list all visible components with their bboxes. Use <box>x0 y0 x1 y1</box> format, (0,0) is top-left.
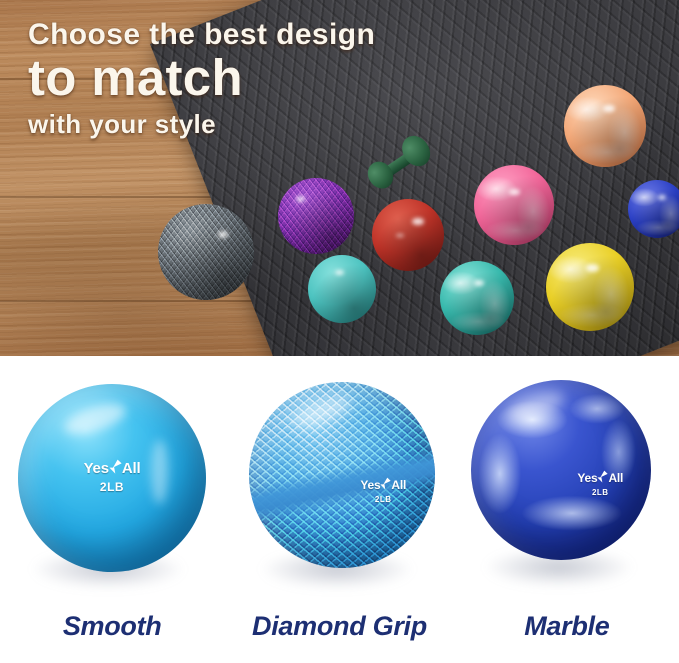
variant-photo-marble: Yes All 2LB <box>455 356 679 599</box>
pink-marble-ball <box>474 165 554 245</box>
yellow-marble-ball <box>546 243 634 331</box>
brand-logo-smooth: Yes All 2LB <box>18 459 206 494</box>
variant-card-row: Yes All 2LB Smooth <box>0 356 679 663</box>
variant-card-diamond-grip[interactable]: Yes All 2LB Diamond Grip <box>224 356 451 663</box>
brand-star-icon <box>109 459 122 478</box>
marble-swirl-overlay <box>471 380 651 560</box>
variant-label-marble: Marble <box>524 611 609 642</box>
brand-name-part1: Yes <box>84 460 109 477</box>
peach-marble-ball <box>564 85 646 167</box>
blue-marble-ball <box>628 180 679 238</box>
variant-card-smooth[interactable]: Yes All 2LB Smooth <box>0 356 224 663</box>
variant-photo-smooth: Yes All 2LB <box>0 356 224 599</box>
gray-diamond-grip-ball <box>158 204 254 300</box>
red-smooth-ball <box>372 199 444 271</box>
variant-label-smooth: Smooth <box>63 611 162 642</box>
teal-marble-ball <box>440 261 514 335</box>
variant-label-diamond-grip: Diamond Grip <box>252 611 427 642</box>
marble-ball-product: Yes All 2LB <box>471 380 651 560</box>
variant-photo-diamond-grip: Yes All 2LB <box>227 356 451 599</box>
headline-line-3: with your style <box>28 109 375 140</box>
weight-label-smooth: 2LB <box>18 480 206 494</box>
smooth-ball-product: Yes All 2LB <box>18 384 206 572</box>
variant-card-marble[interactable]: Yes All 2LB Marble <box>452 356 679 663</box>
brand-name-part3: All <box>122 460 141 477</box>
hero-lifestyle-photo: Choose the best design to match with you… <box>0 0 679 356</box>
diamond-grip-ball-product: Yes All 2LB <box>249 382 435 568</box>
product-marketing-image: Choose the best design to match with you… <box>0 0 679 663</box>
purple-diamond-grip-ball <box>278 178 354 254</box>
teal-smooth-ball <box>308 255 376 323</box>
hero-headline: Choose the best design to match with you… <box>28 18 375 140</box>
headline-line-1: Choose the best design <box>28 18 375 52</box>
headline-line-2: to match <box>28 54 375 103</box>
